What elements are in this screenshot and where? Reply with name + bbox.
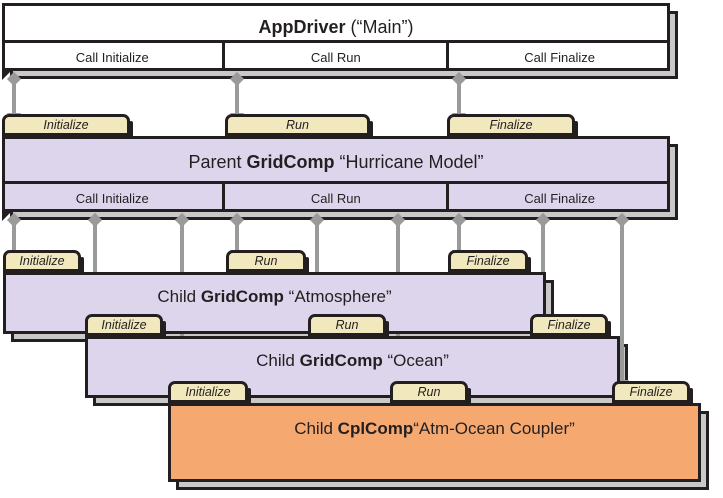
coupler-tab-run[interactable]: Run <box>390 381 468 403</box>
appdriver-box: AppDriver (“Main”) Call Initialize Call … <box>2 3 670 71</box>
parent-tab-run[interactable]: Run <box>225 114 370 136</box>
ocean-tab-finalize[interactable]: Finalize <box>530 314 608 336</box>
coupler-title-bold: CplComp <box>338 419 414 438</box>
coupler-tab-initialize[interactable]: Initialize <box>168 381 248 403</box>
ocean-title-prefix: Child <box>256 351 299 370</box>
connector-parent-finalize-atmosphere <box>457 219 461 251</box>
ocean-gridcomp-box: Child GridComp “Ocean” <box>85 336 620 398</box>
esmf-component-hierarchy-diagram: AppDriver (“Main”) Call Initialize Call … <box>0 0 723 498</box>
ocean-tab-run[interactable]: Run <box>308 314 386 336</box>
parent-call-bar: Call Initialize Call Run Call Finalize <box>2 181 670 212</box>
parent-title-prefix: Parent <box>188 152 246 172</box>
appdriver-call-bar: Call Initialize Call Run Call Finalize <box>2 40 670 71</box>
parent-call-initialize[interactable]: Call Initialize <box>2 184 222 212</box>
connector-parent-init-atmosphere <box>12 219 16 251</box>
parent-tab-initialize[interactable]: Initialize <box>2 114 130 136</box>
parent-title: Parent GridComp “Hurricane Model” <box>5 153 667 171</box>
connector-appdriver-finalize <box>457 78 461 114</box>
atmosphere-tab-initialize[interactable]: Initialize <box>3 250 81 272</box>
parent-gridcomp-box: Parent GridComp “Hurricane Model” Call I… <box>2 136 670 212</box>
atmosphere-title-prefix: Child <box>157 287 200 306</box>
connector-parent-finalize-coupler <box>620 219 624 381</box>
coupler-title: Child CplComp“Atm-Ocean Coupler” <box>171 420 698 437</box>
appdriver-title-bold: AppDriver <box>258 17 345 37</box>
atmosphere-title: Child GridComp “Atmosphere” <box>6 288 543 305</box>
atmosphere-tab-run[interactable]: Run <box>226 250 306 272</box>
ocean-title-bold: GridComp <box>300 351 383 370</box>
ocean-tab-initialize[interactable]: Initialize <box>85 314 163 336</box>
parent-title-suffix: “Hurricane Model” <box>335 152 484 172</box>
connector-appdriver-initialize <box>12 78 16 114</box>
connector-appdriver-run <box>235 78 239 114</box>
appdriver-call-initialize[interactable]: Call Initialize <box>2 43 222 71</box>
appdriver-call-finalize[interactable]: Call Finalize <box>446 43 670 71</box>
parent-title-bold: GridComp <box>247 152 335 172</box>
appdriver-title-suffix: (“Main”) <box>346 17 414 37</box>
ocean-title: Child GridComp “Ocean” <box>88 352 617 369</box>
parent-call-run[interactable]: Call Run <box>222 184 446 212</box>
coupler-cplcomp-box: Child CplComp“Atm-Ocean Coupler” <box>168 403 701 482</box>
atmosphere-title-suffix: “Atmosphere” <box>284 287 392 306</box>
parent-tab-finalize[interactable]: Finalize <box>447 114 575 136</box>
atmosphere-title-bold: GridComp <box>201 287 284 306</box>
ocean-title-suffix: “Ocean” <box>383 351 449 370</box>
atmosphere-tab-finalize[interactable]: Finalize <box>448 250 528 272</box>
appdriver-call-run[interactable]: Call Run <box>222 43 446 71</box>
connector-parent-run-atmosphere <box>235 219 239 251</box>
parent-call-finalize[interactable]: Call Finalize <box>446 184 670 212</box>
coupler-title-suffix: “Atm-Ocean Coupler” <box>413 419 575 438</box>
coupler-title-prefix: Child <box>294 419 337 438</box>
parent-corner-bevel <box>2 212 11 221</box>
appdriver-title: AppDriver (“Main”) <box>5 18 667 36</box>
coupler-tab-finalize[interactable]: Finalize <box>612 381 690 403</box>
